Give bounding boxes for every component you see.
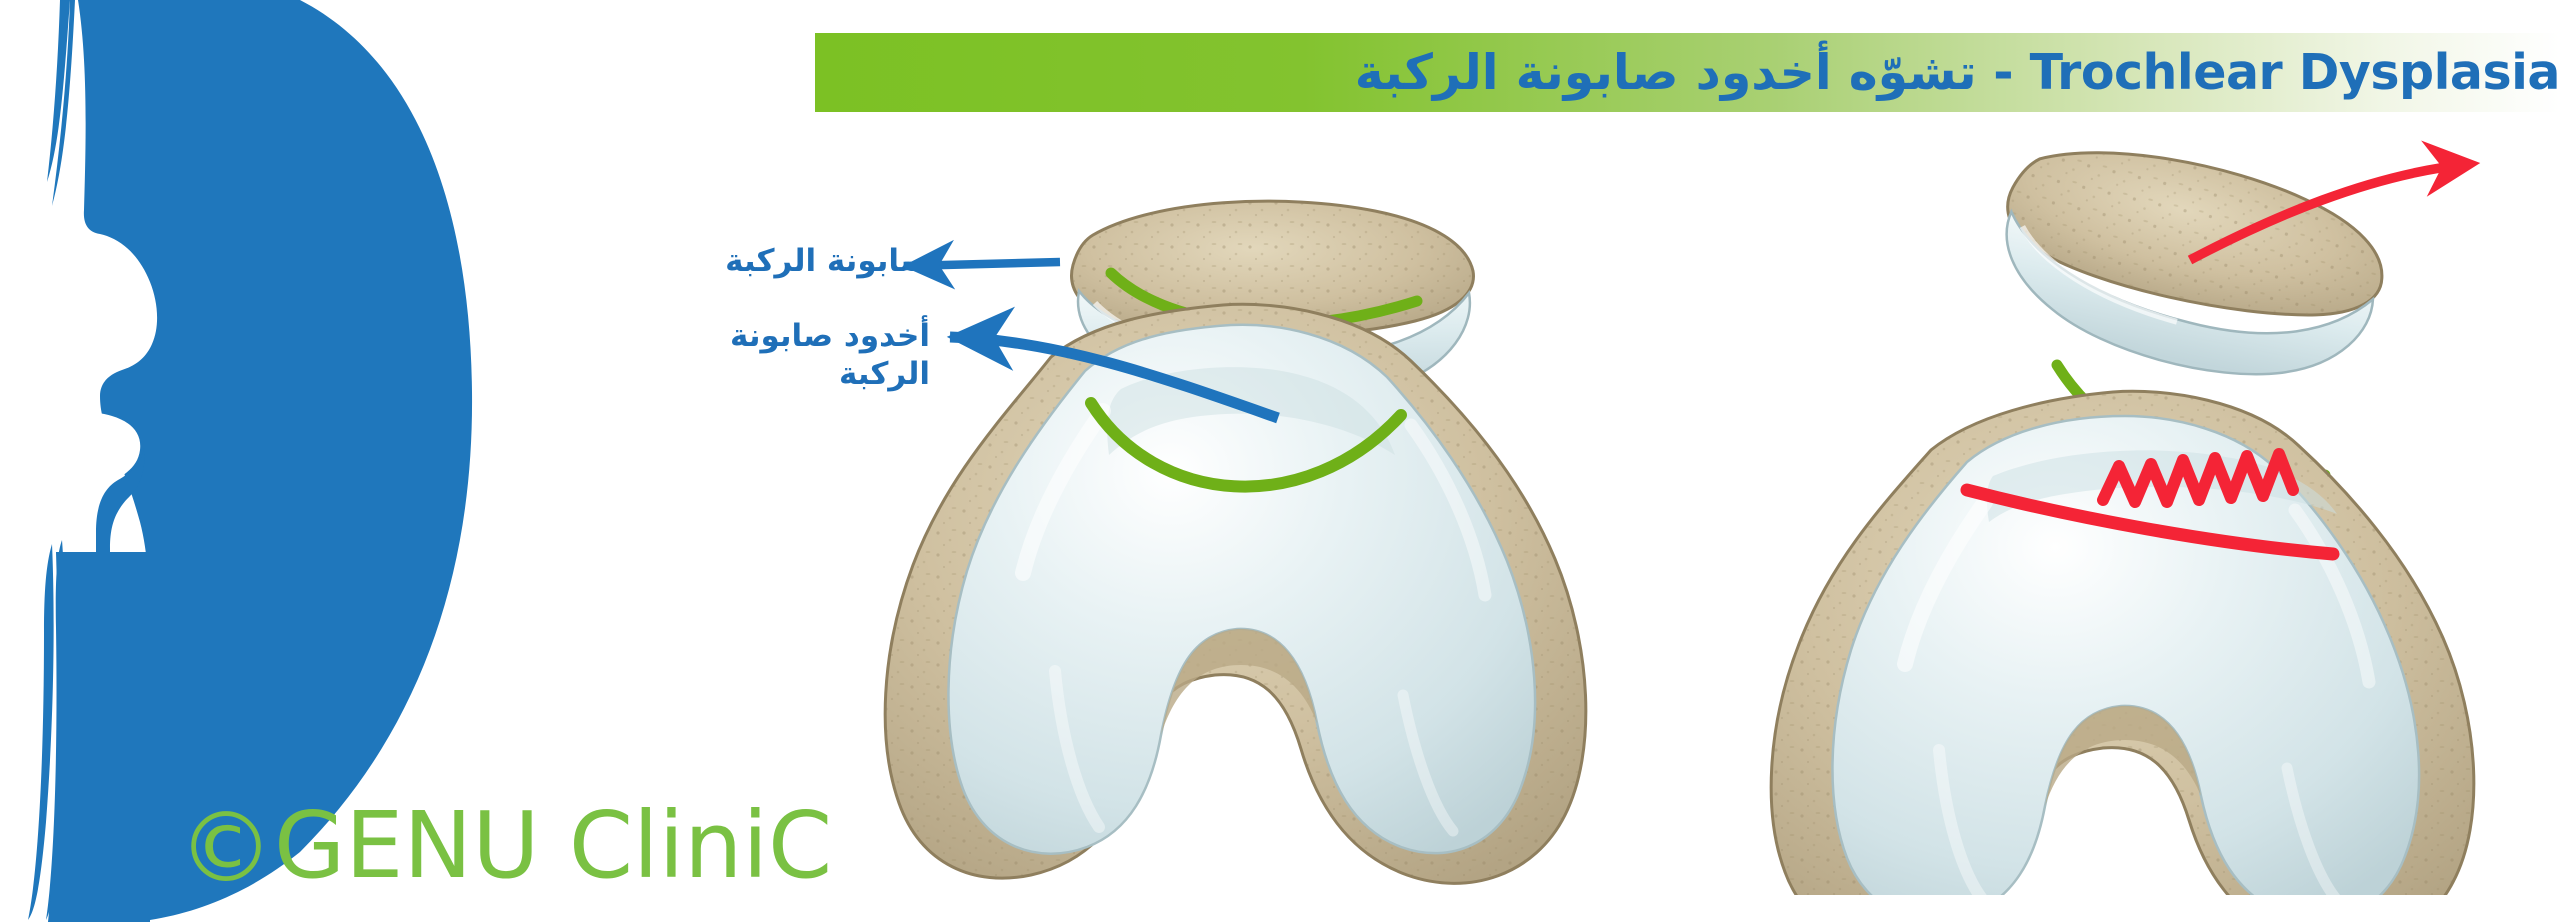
page-title: Trochlear Dysplasia - تشوّه أخدود صابونة… [815,33,2560,112]
femoral-trochlea [885,304,1586,883]
title-banner: Trochlear Dysplasia - تشوّه أخدود صابونة… [815,33,2560,112]
copyright-icon: © [178,792,274,904]
brand-logo [0,0,510,922]
tilted-patella-bone [1981,150,2398,405]
infographic-canvas: ©GENU CliniC Trochlear Dysplasia - تشوّه… [0,0,2560,915]
brand-wordmark-text: GENU CliniC [274,792,832,899]
brand-wordmark: ©GENU CliniC [178,800,832,896]
knee-joint-silhouette-icon [0,0,472,922]
normal-knee-illustration [855,175,1675,895]
dysplastic-knee-illustration [1745,150,2560,895]
